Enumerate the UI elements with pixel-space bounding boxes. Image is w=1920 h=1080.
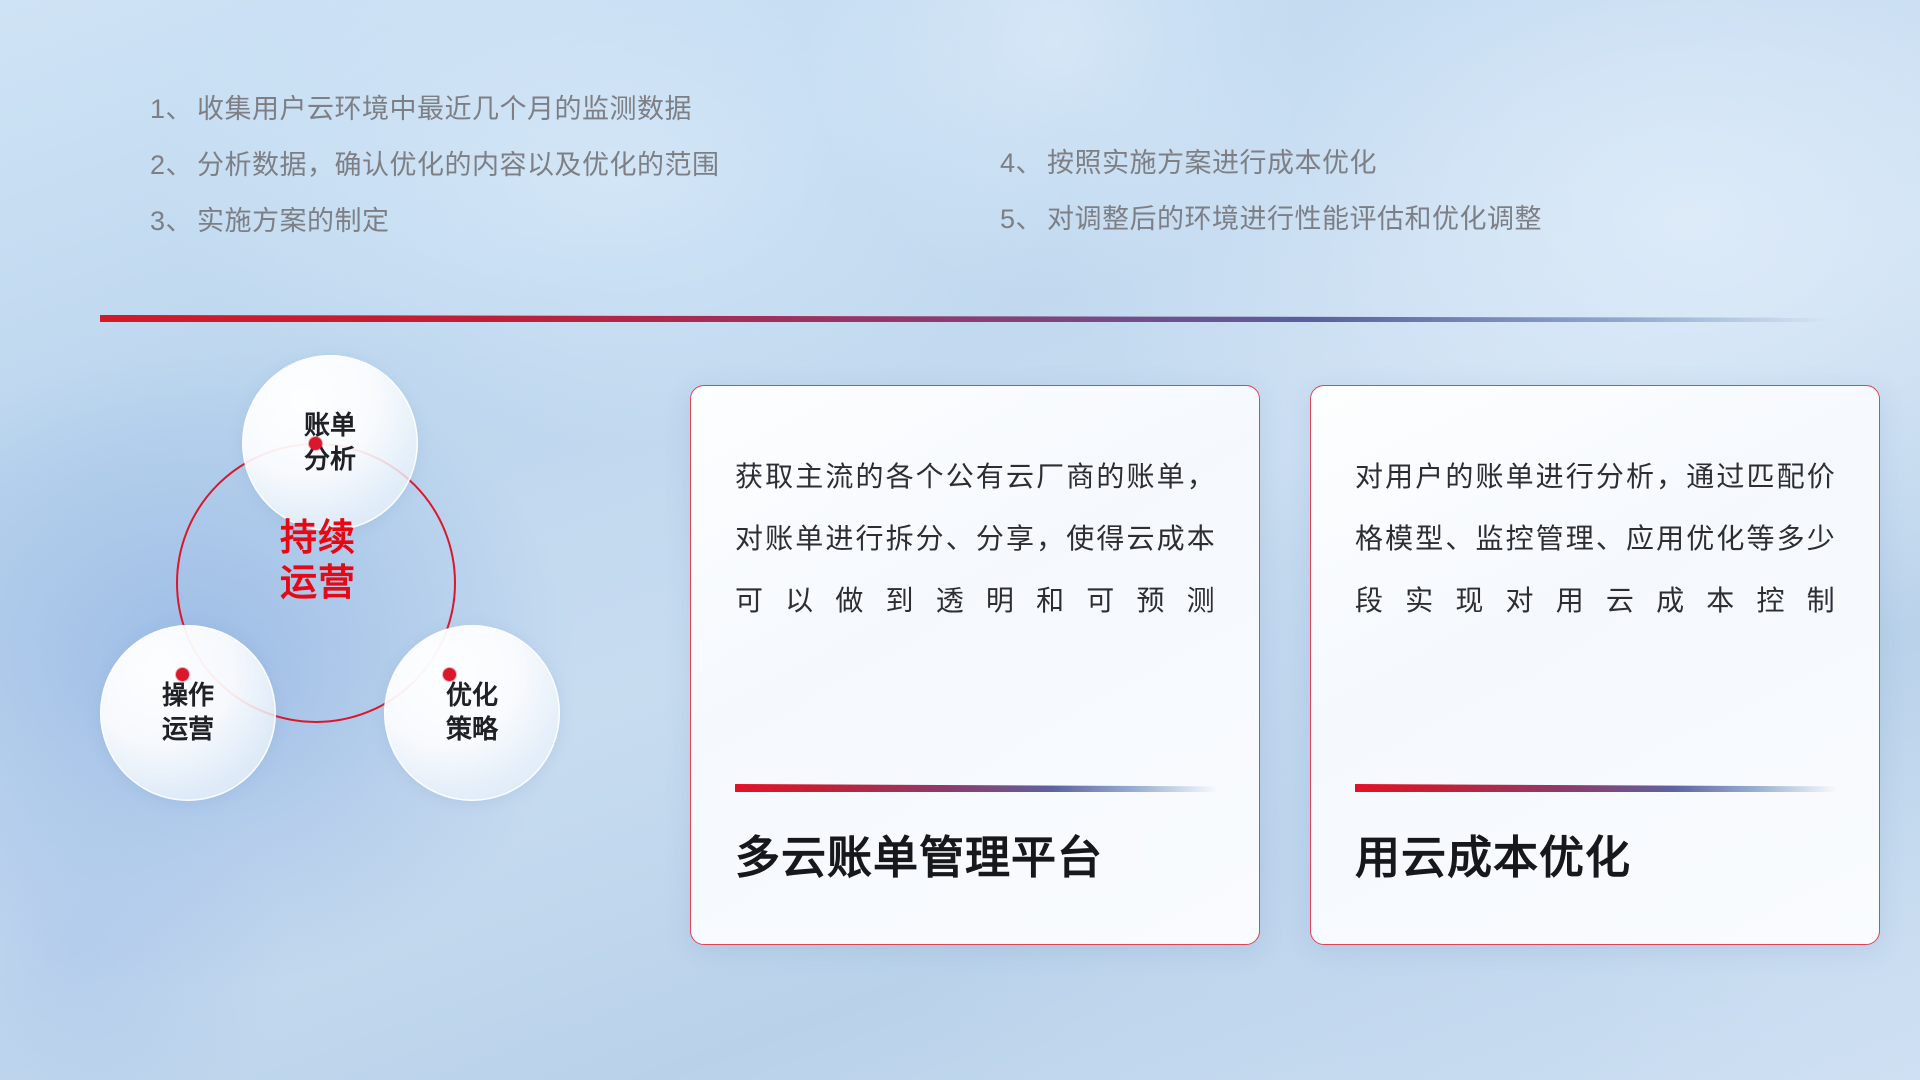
card-title: 多云账单管理平台 [735, 821, 1103, 886]
list-item-number: 2、 [150, 152, 193, 179]
list-item-number: 1、 [150, 96, 193, 123]
card-divider [735, 784, 1217, 792]
venn-center-line1: 持续 [230, 515, 406, 560]
card-multicloud-billing[interactable]: 获取主流的各个公有云厂商的账单，对账单进行拆分、分享，使得云成本可以做到透明和可… [690, 385, 1260, 945]
venn-center-line2: 运营 [230, 560, 406, 605]
venn-bubble-label-line1: 操作 [162, 679, 214, 713]
list-item: 4、 按照实施方案进行成本优化 [1000, 150, 1720, 177]
venn-bubble-label-line2: 策略 [446, 713, 498, 747]
card-title: 用云成本优化 [1355, 821, 1631, 886]
list-item: 2、 分析数据，确认优化的内容以及优化的范围 [150, 152, 810, 179]
venn-bubble-operations[interactable]: 操作 运营 [100, 625, 276, 801]
list-item-number: 5、 [1000, 206, 1043, 233]
venn-bubble-bill-analysis[interactable]: 账单 分析 [242, 355, 418, 531]
steps-column-right: 4、 按照实施方案进行成本优化 5、 对调整后的环境进行性能评估和优化调整 [1000, 150, 1720, 262]
list-item-label: 分析数据，确认优化的内容以及优化的范围 [197, 152, 720, 179]
venn-diagram: 账单 分析 操作 运营 优化 策略 持续 运营 [100, 355, 620, 955]
card-divider [1355, 784, 1837, 792]
venn-node-dot-left [176, 668, 189, 681]
venn-node-dot-top [309, 437, 322, 450]
list-item: 3、 实施方案的制定 [150, 208, 810, 235]
venn-bubble-label-line1: 优化 [446, 679, 498, 713]
list-item-label: 收集用户云环境中最近几个月的监测数据 [197, 96, 692, 123]
card-body-text: 获取主流的各个公有云厂商的账单，对账单进行拆分、分享，使得云成本可以做到透明和可… [735, 446, 1215, 632]
steps-column-left: 1、 收集用户云环境中最近几个月的监测数据 2、 分析数据，确认优化的内容以及优… [150, 96, 810, 264]
venn-center-label: 持续 运营 [230, 515, 406, 605]
card-cost-optimization[interactable]: 对用户的账单进行分析，通过匹配价格模型、监控管理、应用优化等多少段实现对用云成本… [1310, 385, 1880, 945]
card-body-text: 对用户的账单进行分析，通过匹配价格模型、监控管理、应用优化等多少段实现对用云成本… [1355, 446, 1835, 632]
venn-bubble-label-line2: 运营 [162, 713, 214, 747]
list-item: 1、 收集用户云环境中最近几个月的监测数据 [150, 96, 810, 123]
list-item-label: 对调整后的环境进行性能评估和优化调整 [1047, 206, 1542, 233]
section-divider [100, 315, 1830, 322]
list-item-label: 实施方案的制定 [197, 208, 390, 235]
list-item: 5、 对调整后的环境进行性能评估和优化调整 [1000, 206, 1720, 233]
list-item-number: 3、 [150, 208, 193, 235]
venn-node-dot-right [443, 668, 456, 681]
venn-bubble-optimization-strategy[interactable]: 优化 策略 [384, 625, 560, 801]
list-item-number: 4、 [1000, 150, 1043, 177]
list-item-label: 按照实施方案进行成本优化 [1047, 150, 1377, 177]
